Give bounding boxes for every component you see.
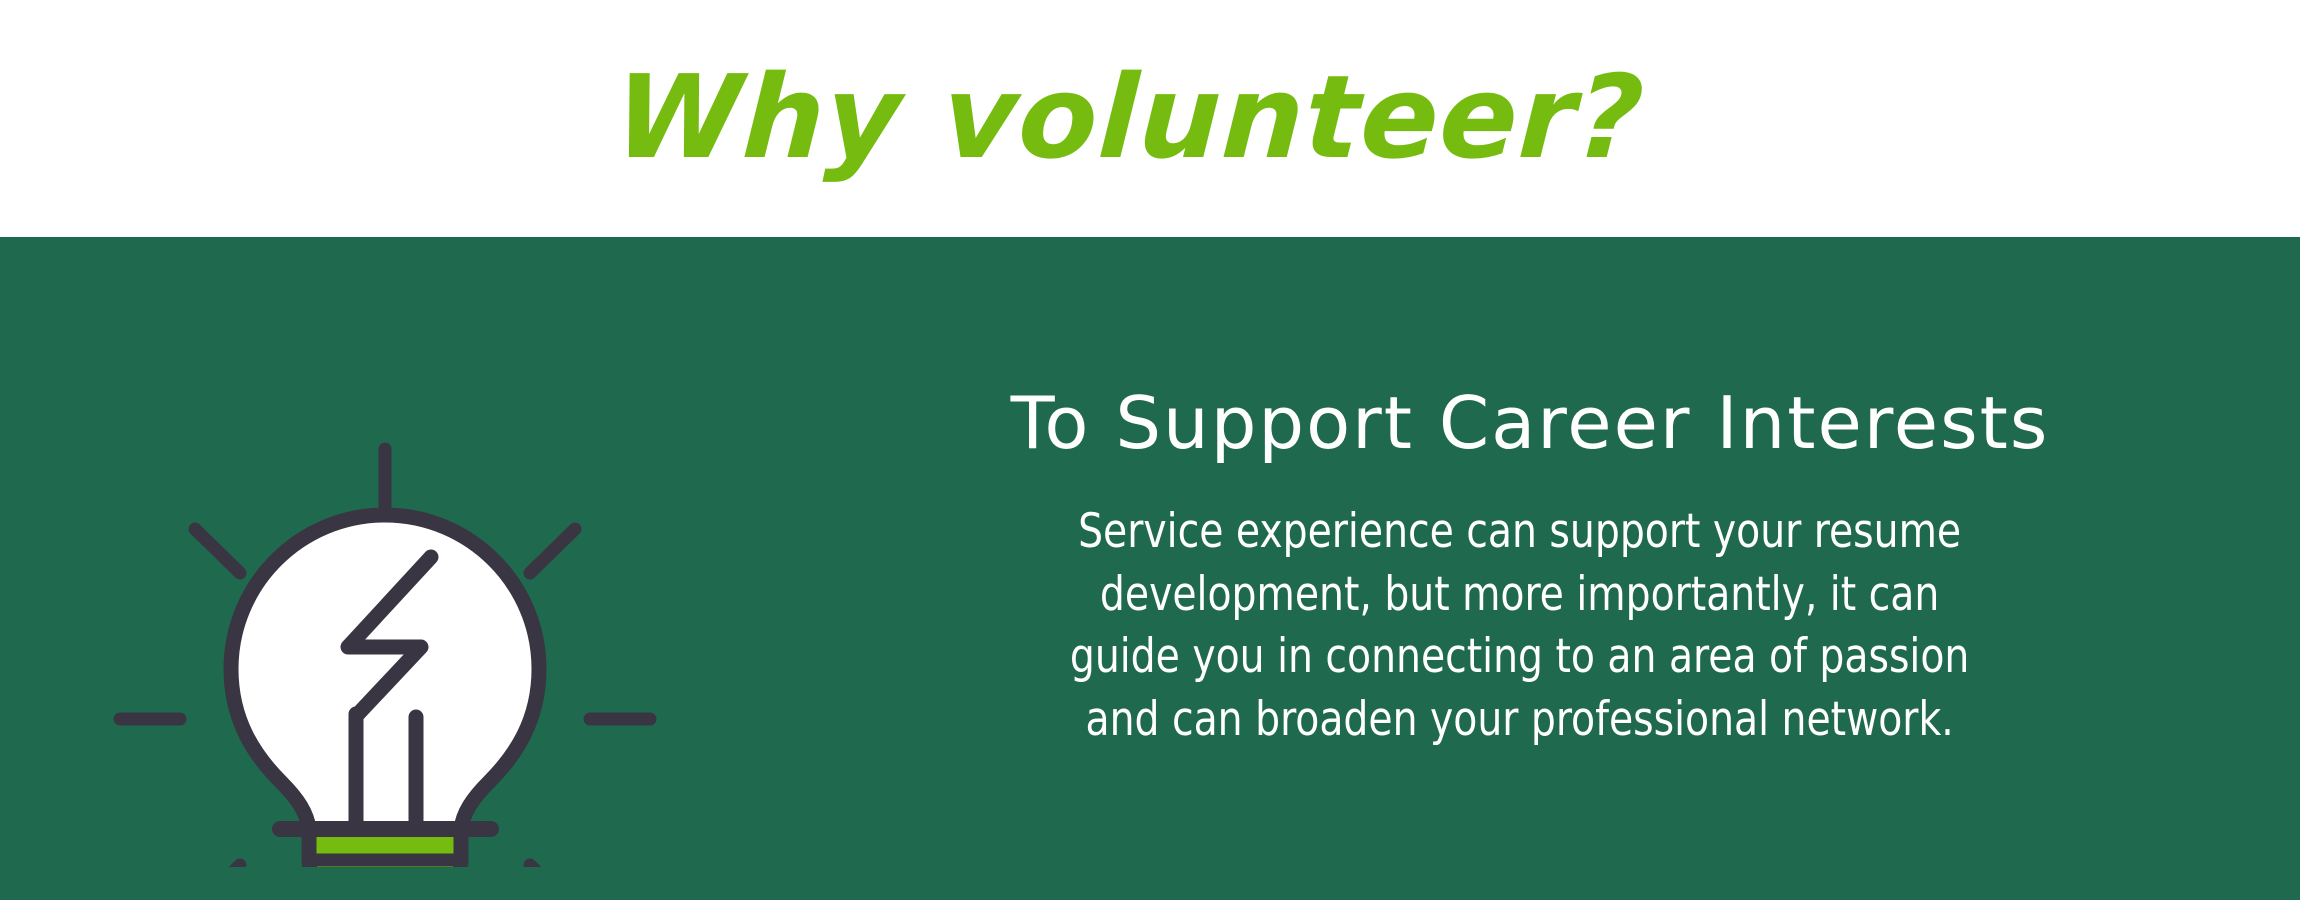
content-band: To Support Career Interests Service expe… xyxy=(0,237,2300,900)
ray-lower-left xyxy=(195,865,240,867)
card-body-line: development, but more importantly, it ca… xyxy=(1070,564,1969,627)
card-text-column: To Support Career Interests Service expe… xyxy=(820,237,2220,900)
bulb-glass xyxy=(231,515,539,829)
page-title: Why volunteer? xyxy=(612,61,1647,176)
card-body-line: guide you in connecting to an area of pa… xyxy=(1070,626,1969,689)
lightbulb-icon xyxy=(95,277,695,867)
card-body-line: and can broaden your professional networ… xyxy=(1070,689,1969,752)
card-heading: To Support Career Interests xyxy=(1011,386,2050,462)
card-body: Service experience can support your resu… xyxy=(1070,501,1969,751)
why-volunteer-banner: Why volunteer? xyxy=(0,0,2300,900)
ray-upper-left xyxy=(195,529,240,573)
ray-upper-right xyxy=(530,529,575,573)
title-band: Why volunteer? xyxy=(0,0,2300,237)
ray-lower-right xyxy=(530,865,575,867)
card-body-line: Service experience can support your resu… xyxy=(1070,501,1969,564)
lightbulb-svg xyxy=(95,277,695,867)
